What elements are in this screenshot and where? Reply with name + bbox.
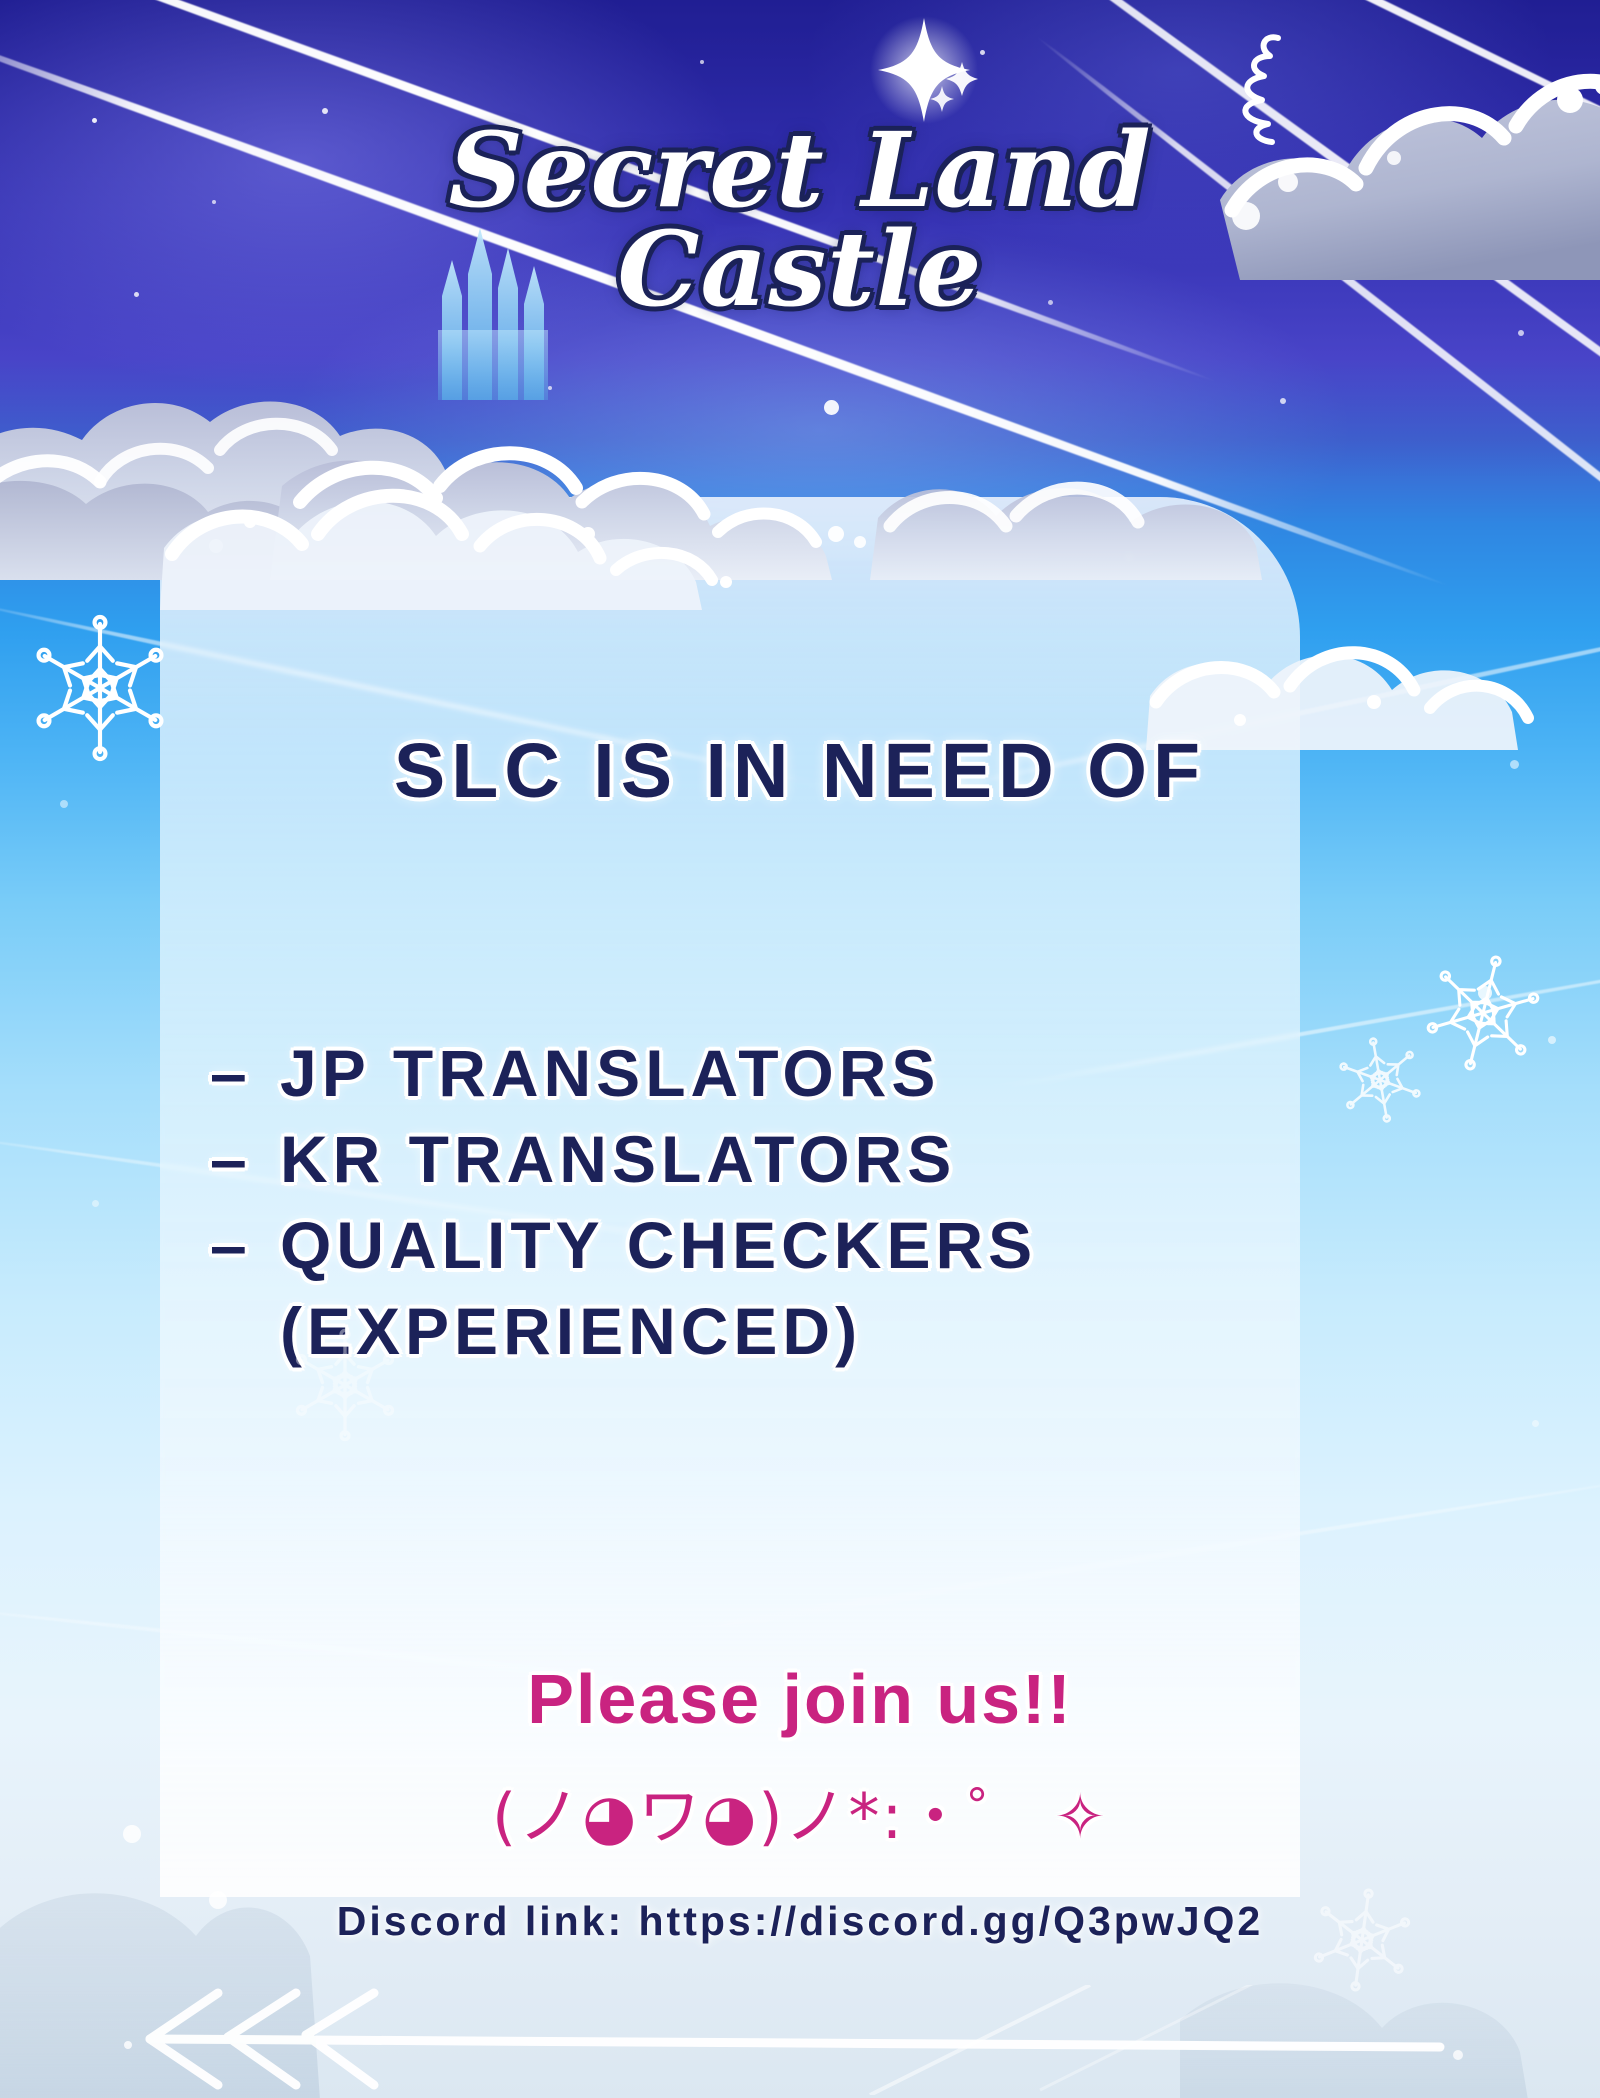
kaomoji-text: (ノ◕ワ◕)ノ*:・゜ ✧ (0, 1766, 1600, 1856)
poster-content: Secret Land Castle SLC IS IN NEED OF – J… (0, 0, 1600, 2098)
discord-link-text[interactable]: Discord link: https://discord.gg/Q3pwJQ2 (0, 1898, 1600, 1945)
list-item: – KR TRANSLATORS (210, 1121, 1410, 1197)
needs-list: – JP TRANSLATORS – KR TRANSLATORS – QUAL… (210, 1035, 1410, 1369)
need-label: KR TRANSLATORS (280, 1121, 956, 1197)
need-label: QUALITY CHECKERS (280, 1207, 1037, 1283)
bullet-dash: – (210, 1121, 280, 1197)
list-item: – QUALITY CHECKERS (210, 1207, 1410, 1283)
bullet-dash: – (210, 1207, 280, 1283)
poster-title: Secret Land Castle (0, 118, 1600, 322)
need-label: JP TRANSLATORS (280, 1035, 940, 1111)
bullet-dash: – (210, 1035, 280, 1111)
call-to-action-text: Please join us!! (0, 1659, 1600, 1739)
title-line-1: Secret Land (0, 118, 1600, 223)
poster-canvas: Secret Land Castle SLC IS IN NEED OF – J… (0, 0, 1600, 2098)
list-item: – JP TRANSLATORS (210, 1035, 1410, 1111)
title-line-2: Castle (0, 217, 1600, 322)
need-sublabel: (EXPERIENCED) (280, 1293, 1410, 1369)
headline-text: SLC IS IN NEED OF (0, 727, 1600, 816)
